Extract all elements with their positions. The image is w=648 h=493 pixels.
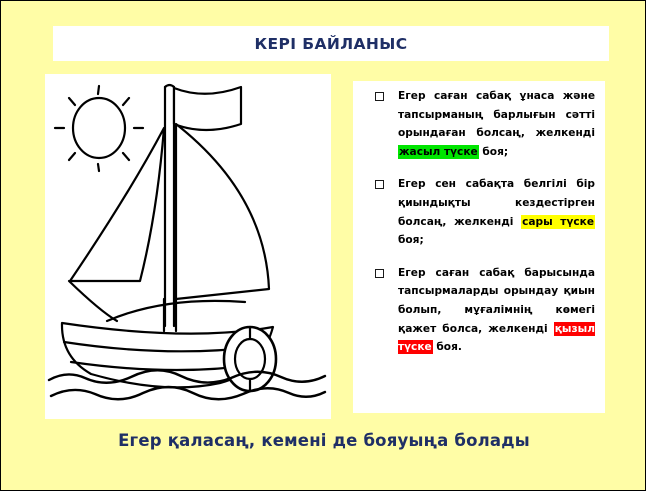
sailboat-illustration (45, 74, 331, 419)
title-bar: КЕРІ БАЙЛАНЫС (53, 26, 609, 61)
highlight-green-color-name: жасыл түске (398, 145, 479, 159)
checkbox-empty-icon (375, 269, 384, 278)
instruction-segment-plain: Егер саған сабақ ұнаса және тапсырманың … (398, 90, 595, 139)
life-ring-shape (224, 327, 276, 391)
flag-shape (174, 87, 241, 130)
mast-shape (165, 85, 174, 326)
list-item: Егер саған сабақ барысында тапсырмаларды… (353, 264, 605, 357)
illustration-panel (45, 74, 331, 419)
instruction-segment-tail: боя; (398, 234, 424, 246)
instruction-text-2: Егер сен сабақта белгілі бір қиындықты к… (398, 175, 595, 249)
sun-icon (55, 86, 143, 171)
list-item: Егер саған сабақ ұнаса және тапсырманың … (353, 87, 605, 161)
slide-canvas: КЕРІ БАЙЛАНЫС (0, 0, 646, 491)
instructions-panel: Егер саған сабақ ұнаса және тапсырманың … (353, 81, 605, 413)
checkbox-empty-icon (375, 92, 384, 101)
footer-caption: Егер қаласаң, кемені де бояуыңа болады (1, 431, 646, 450)
page-title: КЕРІ БАЙЛАНЫС (254, 35, 407, 53)
instruction-segment-tail: боя. (433, 341, 462, 353)
instruction-text-1: Егер саған сабақ ұнаса және тапсырманың … (398, 87, 595, 161)
main-sail-shape (176, 124, 269, 299)
instruction-segment-tail: боя; (479, 146, 508, 158)
checkbox-empty-icon (375, 180, 384, 189)
highlight-yellow-color-name: сары түске (521, 215, 595, 229)
list-item: Егер сен сабақта белгілі бір қиындықты к… (353, 175, 605, 249)
instruction-text-3: Егер саған сабақ барысында тапсырмаларды… (398, 264, 595, 357)
